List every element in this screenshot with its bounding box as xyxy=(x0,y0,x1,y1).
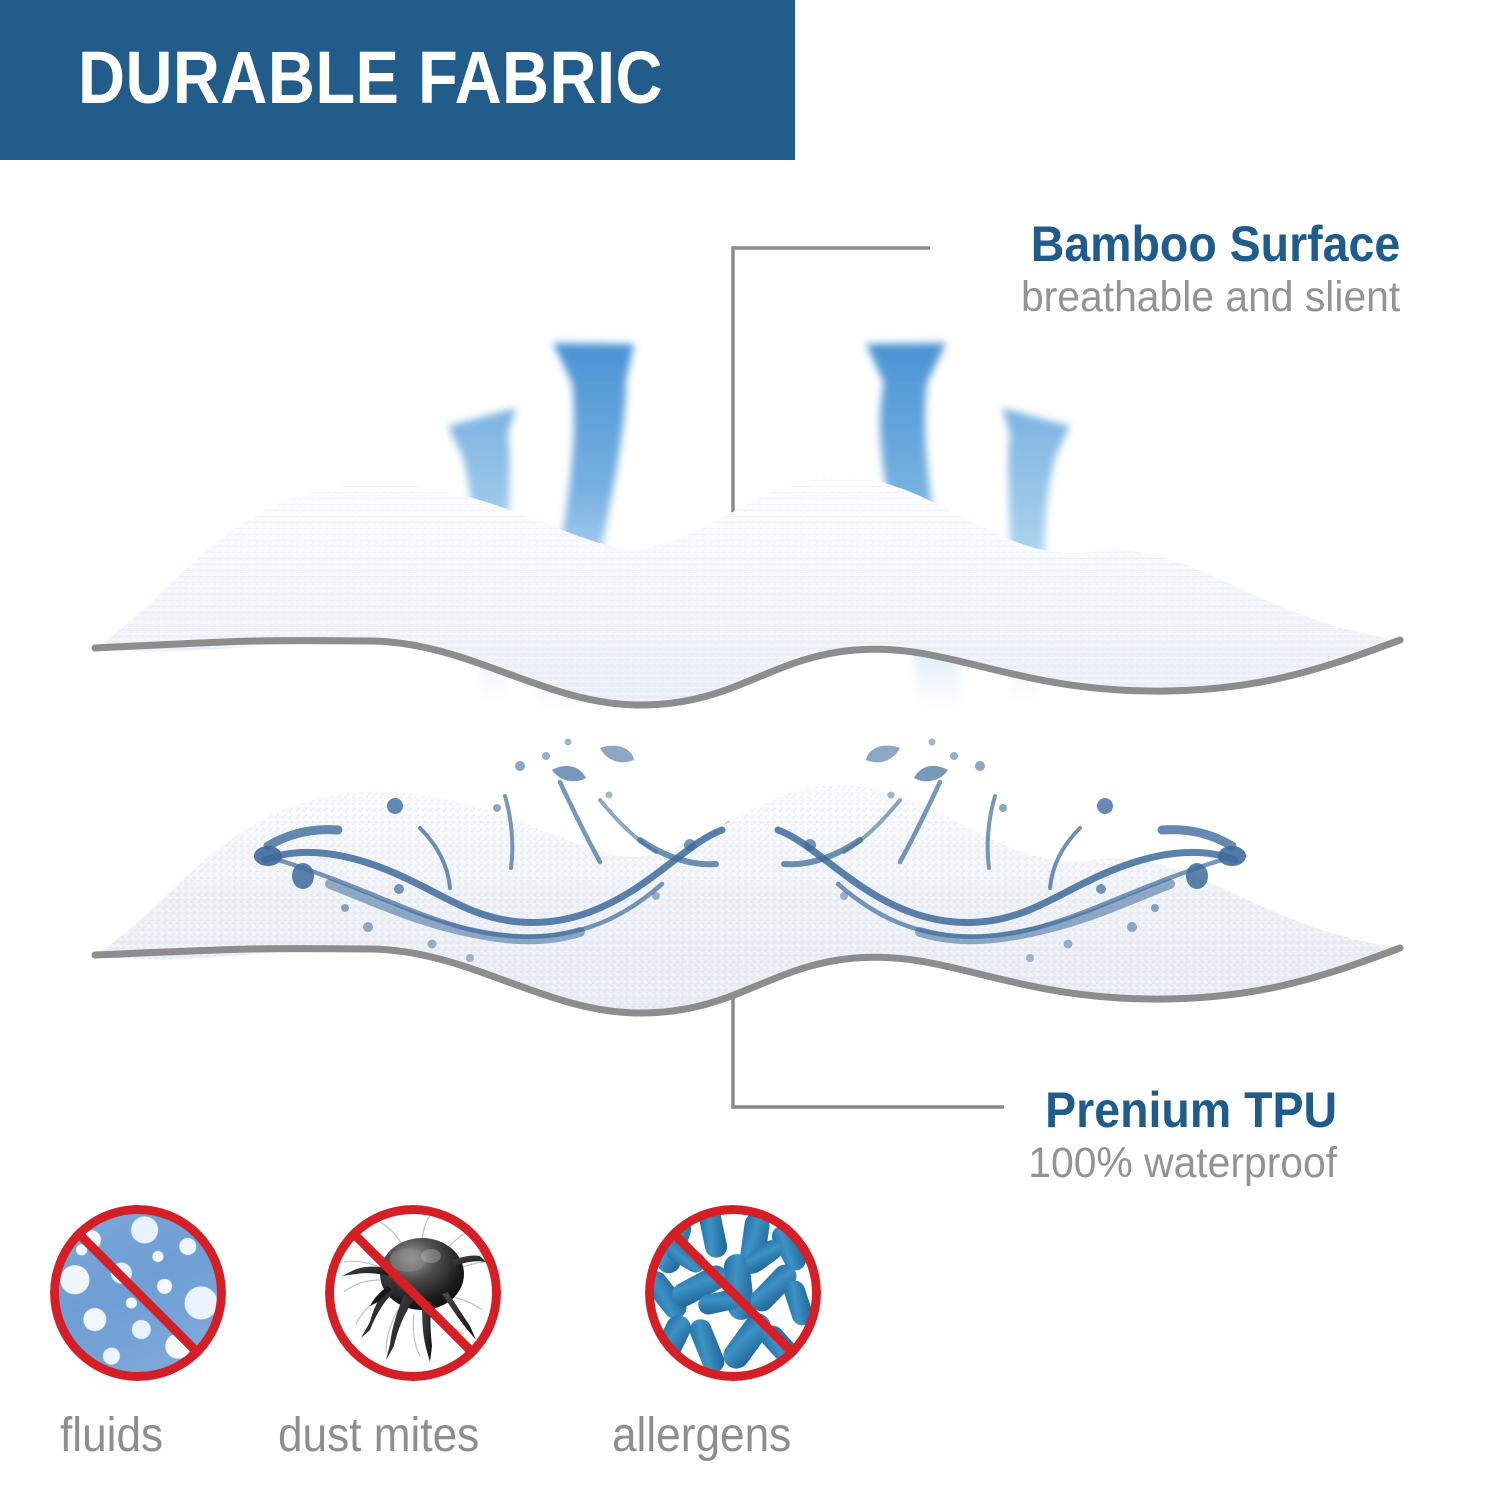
badge-label-fluids: fluids xyxy=(60,1410,163,1462)
callout-tpu-subtitle: 100% waterproof xyxy=(1028,1138,1337,1188)
badge-label-allergens: allergens xyxy=(612,1410,791,1462)
callout-bamboo-subtitle: breathable and slient xyxy=(1021,272,1400,322)
bamboo-surface-layer xyxy=(60,440,1460,740)
callout-bamboo-surface: Bamboo Surface breathable and slient xyxy=(1001,216,1400,322)
infographic-canvas: DURABLE FABRIC xyxy=(0,0,1500,1500)
badge-fluids xyxy=(50,1205,226,1381)
callout-bamboo-title: Bamboo Surface xyxy=(1029,216,1400,272)
callout-tpu-title: Prenium TPU xyxy=(1035,1082,1337,1138)
callout-premium-tpu: Prenium TPU 100% waterproof xyxy=(1012,1082,1337,1188)
badge-dust-mites xyxy=(325,1205,501,1381)
badge-label-dust-mites: dust mites xyxy=(278,1410,479,1462)
badge-allergens xyxy=(645,1205,821,1381)
tpu-waterproof-layer xyxy=(60,750,1460,1050)
